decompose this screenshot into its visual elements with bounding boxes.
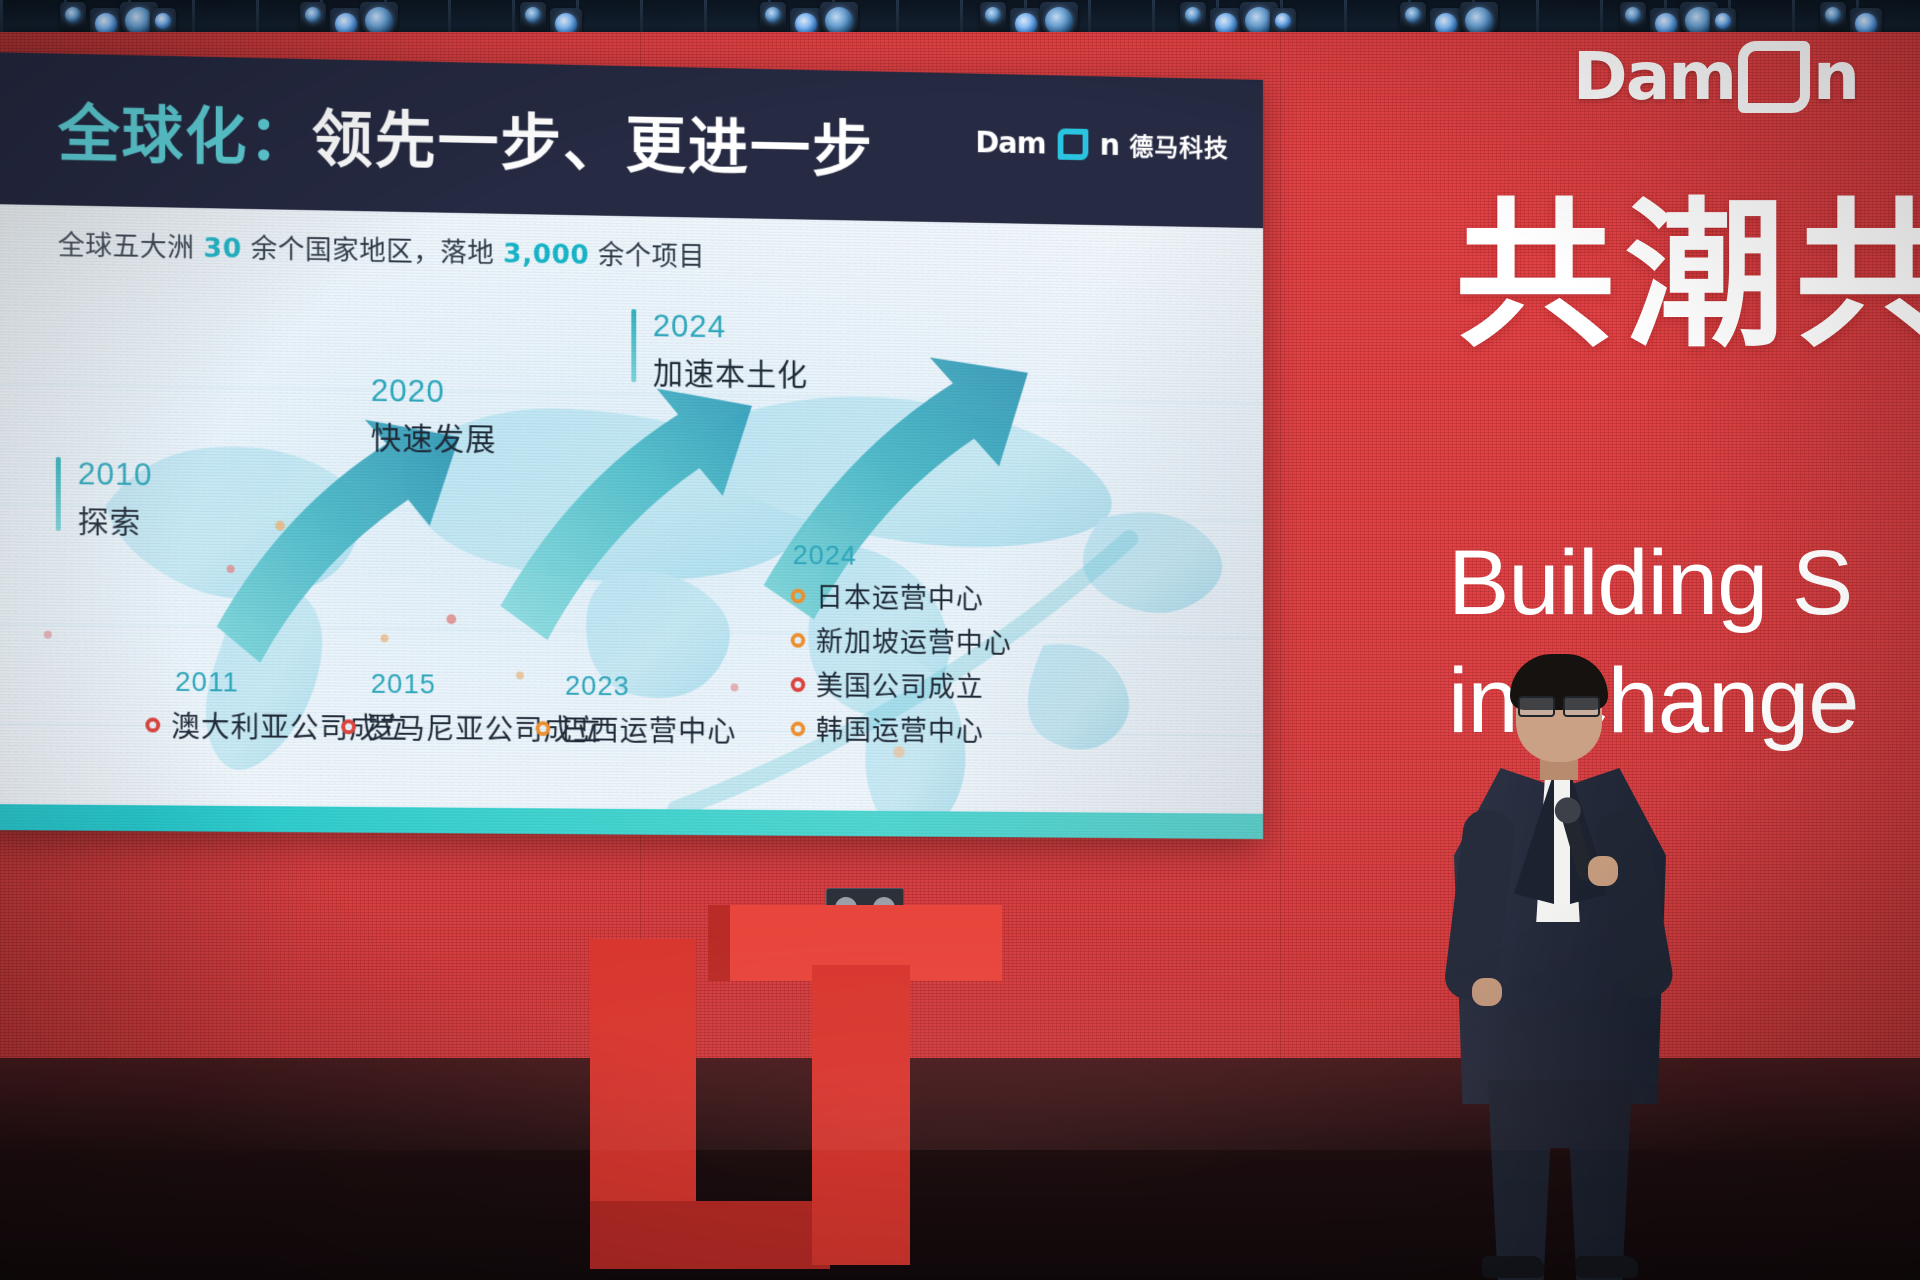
block-2024-item-korea-label: 韩国运营中心 [816, 709, 984, 750]
block-2024-operations: 2024 日本运营中心 新加坡运营中心 美国公司成立 韩国运营中心 [791, 539, 1012, 750]
subtitle-part1: 全球五大洲 [58, 230, 204, 264]
bullet-circle-icon [145, 717, 160, 732]
block-2024-item-usa: 美国公司成立 [791, 664, 1012, 706]
conference-stage-photo: Dam n 共潮共 Building S in Change 全球化：领先一步、… [0, 0, 1920, 1280]
milestone-2024-text: 加速本土化 [653, 348, 808, 395]
stage-light-lens-icon [125, 7, 153, 32]
milestone-bar-icon [56, 457, 61, 531]
stage-light [360, 2, 398, 32]
stage-light-lens-icon [365, 7, 393, 32]
wall-logo-text-end: n [1813, 38, 1858, 115]
timeline-2023-label: 巴西运营中心 [561, 707, 736, 750]
stage-light-lens-icon [1185, 7, 1201, 23]
wall-logo-o-icon [1738, 41, 1810, 113]
block-2024-item-japan-label: 日本运营中心 [816, 576, 984, 617]
stage-light-lens-icon [525, 7, 541, 23]
stage-light-lens-icon [1245, 7, 1273, 32]
bullet-circle-icon [791, 721, 806, 736]
stage-light [760, 2, 786, 32]
slide-logo-chinese: 德马科技 [1129, 128, 1228, 165]
stage-light-lens-icon [1825, 7, 1841, 23]
speaker-trousers [1478, 1080, 1642, 1280]
stage-light [1180, 2, 1206, 32]
bullet-circle-icon [791, 632, 806, 647]
stage-light [1460, 2, 1498, 32]
speaker-person [1448, 660, 1678, 1280]
milestone-2010-text: 探索 [78, 496, 153, 542]
milestone-2024-top: 2024 加速本土化 [631, 307, 808, 395]
stage-light-lens-icon [765, 7, 781, 23]
timeline-2023-year: 2023 [565, 670, 736, 703]
bullet-circle-icon [536, 721, 551, 736]
stage-light [60, 2, 86, 32]
slide-header-bar: 全球化：领先一步、更进一步 Damn 德马科技 [0, 52, 1263, 228]
block-2024-item-singapore-label: 新加坡运营中心 [816, 620, 1012, 661]
milestone-2010: 2010 探索 [56, 455, 153, 542]
subtitle-part2: 余个国家地区，落地 [242, 234, 504, 270]
subtitle-number-countries: 30 [203, 233, 241, 265]
bullet-circle-icon [791, 588, 806, 603]
stage-light-lens-icon [65, 7, 81, 23]
speaker-shoe-left [1482, 1256, 1544, 1278]
stage-light-lens-icon [1465, 7, 1493, 32]
speaker-hand-right [1588, 856, 1618, 886]
stage-light-lens-icon [305, 7, 321, 23]
speaker-hand-left-with-clicker [1472, 978, 1502, 1006]
slide-body: 全球五大洲 30 余个国家地区，落地 3,000 余个项目 2010 探索 20… [0, 204, 1263, 839]
stage-light [820, 2, 858, 32]
stage-light-lens-icon [825, 7, 853, 32]
stage-light [520, 2, 546, 32]
milestone-2010-year: 2010 [78, 455, 153, 493]
milestone-2020-text: 快速发展 [371, 413, 497, 459]
bullet-circle-icon [341, 719, 356, 734]
presentation-slide: 全球化：领先一步、更进一步 Damn 德马科技 [0, 52, 1263, 839]
stage-light [1820, 2, 1846, 32]
stage-light [300, 2, 326, 32]
milestone-2024-year: 2024 [653, 307, 808, 346]
stage-light-lens-icon [1405, 7, 1421, 23]
slide-damon-logo: Damn 德马科技 [975, 125, 1228, 165]
wall-logo-text-start: Dam [1573, 38, 1735, 115]
wall-damon-logo: Dam n [1573, 38, 1858, 115]
bullet-circle-icon [791, 677, 806, 692]
block-2024-item-japan: 日本运营中心 [791, 576, 1012, 618]
milestone-bar-icon-2 [631, 309, 636, 382]
milestone-2020-year: 2020 [371, 372, 497, 411]
timeline-2023: 2023 巴西运营中心 [536, 670, 737, 751]
wall-headline-english-line1: Building S [1448, 525, 1858, 643]
stage-light-lens-icon [1715, 13, 1731, 29]
speaker-shoe-right [1576, 1256, 1638, 1278]
lt-stage-sculpture [590, 905, 1120, 1280]
stage-light [1400, 2, 1426, 32]
speaker-eyeglasses-icon [1518, 696, 1600, 713]
stage-light-lens-icon [155, 13, 171, 29]
block-2024-item-usa-label: 美国公司成立 [816, 665, 984, 706]
stage-light-lens-icon [1685, 7, 1713, 32]
slide-logo-text-end: n [1099, 128, 1118, 163]
stage-light-lens-icon [1045, 7, 1073, 32]
block-2024-item-singapore: 新加坡运营中心 [791, 620, 1012, 662]
wall-headline-chinese: 共潮共 [1455, 196, 1920, 356]
stage-light-lens-icon [985, 7, 1001, 23]
stage-light-lens-icon [1625, 7, 1641, 23]
stage-light [1040, 2, 1078, 32]
milestone-2020: 2020 快速发展 [371, 372, 497, 459]
subtitle-part3: 余个项目 [589, 240, 705, 273]
slide-title-accent: 全球化： [58, 98, 312, 176]
stage-light-lens-icon [1275, 13, 1291, 29]
slide-title: 全球化：领先一步、更进一步 [58, 84, 874, 190]
slide-logo-o-icon [1057, 128, 1088, 160]
block-2024-item-korea: 韩国运营中心 [791, 709, 1012, 750]
slide-logo-text-start: Dam [975, 125, 1046, 161]
stage-light [1620, 2, 1646, 32]
subtitle-number-projects: 3,000 [503, 239, 589, 271]
stage-light [980, 2, 1006, 32]
block-2024-year: 2024 [793, 539, 1012, 573]
slide-title-main: 领先一步、更进一步 [312, 103, 874, 187]
